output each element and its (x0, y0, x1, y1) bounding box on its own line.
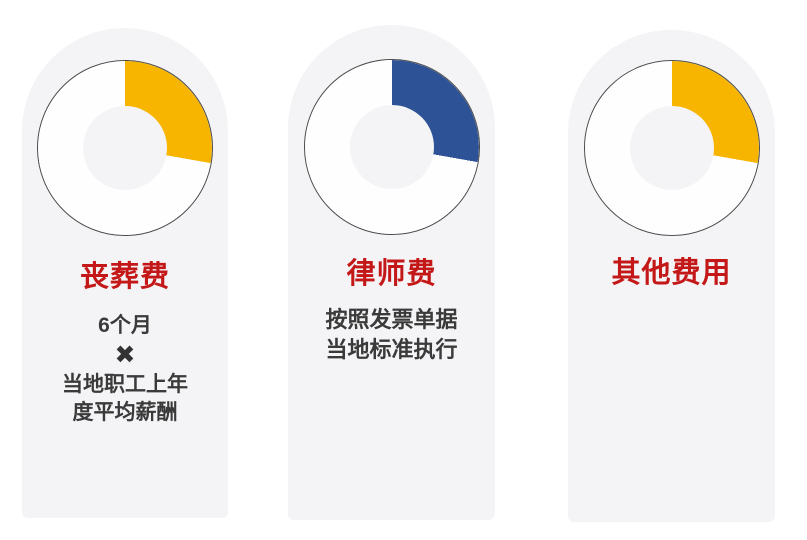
body-line-duration: 6个月 (62, 312, 188, 340)
donut-chart-other (584, 60, 760, 236)
body-line-basis-1: 当地职工上年 (62, 371, 188, 399)
card-lawyer-fees[interactable]: 律师费 按照发票单据 当地标准执行 (288, 25, 495, 520)
multiply-icon: ✖ (62, 340, 188, 371)
card-funeral-expenses[interactable]: 丧葬费 6个月 ✖ 当地职工上年 度平均薪酬 (22, 28, 228, 518)
card-title-funeral: 丧葬费 (80, 262, 170, 294)
infographic-canvas: 丧葬费 6个月 ✖ 当地职工上年 度平均薪酬 律师费 按照发票单据 当地标准执行 (0, 0, 807, 540)
donut-center-hole (630, 106, 714, 190)
donut-center-hole (83, 106, 167, 190)
card-body-lawyer: 按照发票单据 当地标准执行 (325, 305, 457, 366)
card-title-other: 其他费用 (611, 258, 731, 290)
donut-center-hole (350, 105, 434, 189)
donut-chart-lawyer (304, 59, 480, 235)
body-line-basis-2: 度平均薪酬 (62, 399, 188, 427)
card-body-funeral: 6个月 ✖ 当地职工上年 度平均薪酬 (62, 312, 188, 426)
donut-chart-funeral (37, 60, 213, 236)
body-line-invoice: 按照发票单据 (325, 305, 457, 335)
body-line-local-standard: 当地标准执行 (325, 335, 457, 365)
card-title-lawyer: 律师费 (346, 259, 436, 291)
card-other-expenses[interactable]: 其他费用 (568, 30, 775, 522)
